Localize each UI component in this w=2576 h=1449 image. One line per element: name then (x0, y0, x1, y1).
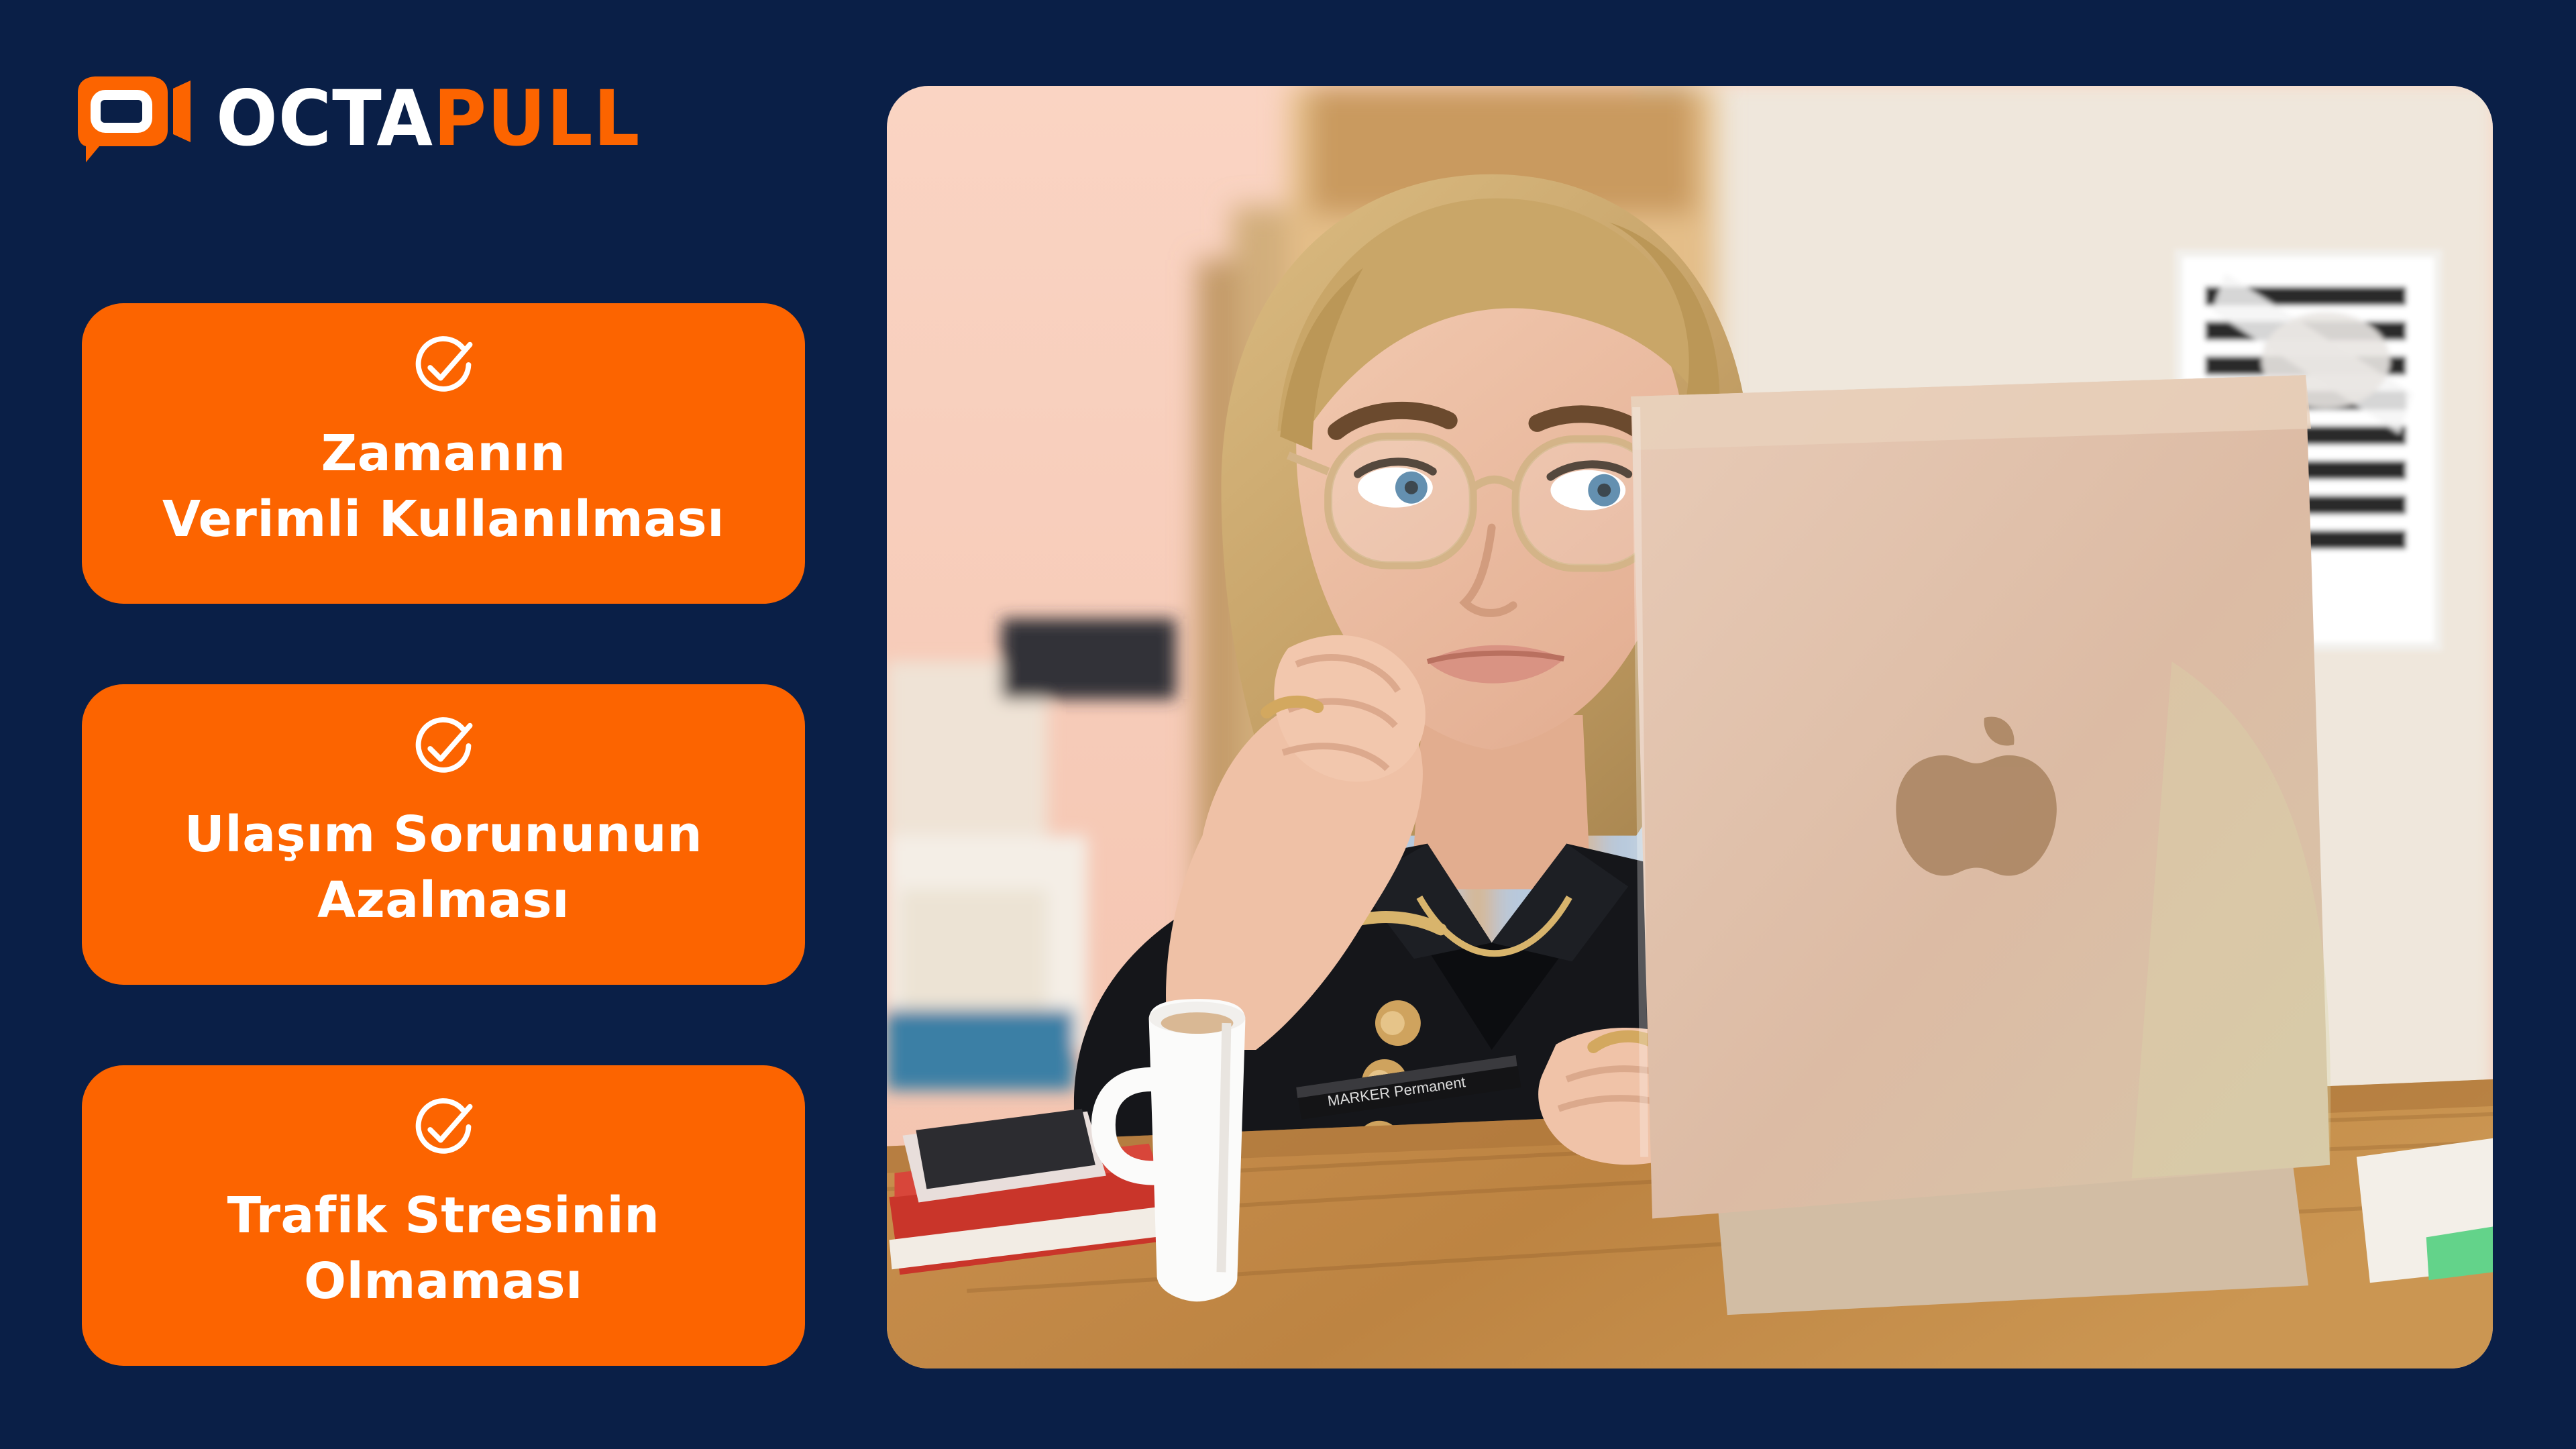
benefit-card[interactable]: Ulaşım Sorununun Azalması (82, 684, 805, 985)
benefit-card-line2: Azalması (109, 868, 778, 934)
video-camera-speech-bubble-icon (72, 72, 193, 166)
slide-canvas: OCTAPULL Zamanın Verimli Kullanılması Ul… (0, 0, 2576, 1449)
hero-photo-illustration: MARKER Permanent (887, 86, 2493, 1368)
brand-logo[interactable]: OCTAPULL (72, 72, 640, 166)
benefit-card-line1: Ulaşım Sorununun (184, 806, 702, 863)
benefit-card-list: Zamanın Verimli Kullanılması Ulaşım Soru… (82, 303, 805, 1366)
benefit-card-text: Ulaşım Sorununun Azalması (109, 802, 778, 933)
wordmark-pull: PULL (433, 81, 641, 158)
benefit-card-line2: Olmaması (109, 1249, 778, 1315)
benefit-card[interactable]: Zamanın Verimli Kullanılması (82, 303, 805, 604)
check-circle-icon (409, 333, 478, 402)
benefit-card-line1: Zamanın (321, 425, 566, 482)
benefit-card-line2: Verimli Kullanılması (109, 487, 778, 553)
benefit-card-text: Trafik Stresinin Olmaması (109, 1183, 778, 1314)
hero-photo: MARKER Permanent (887, 86, 2493, 1368)
benefit-card-line1: Trafik Stresinin (227, 1187, 660, 1244)
check-circle-icon (409, 1095, 478, 1165)
benefit-card-text: Zamanın Verimli Kullanılması (109, 421, 778, 552)
check-circle-icon (409, 714, 478, 784)
wordmark-octa: OCTA (216, 81, 433, 158)
benefit-card[interactable]: Trafik Stresinin Olmaması (82, 1065, 805, 1366)
brand-wordmark: OCTAPULL (216, 81, 640, 158)
